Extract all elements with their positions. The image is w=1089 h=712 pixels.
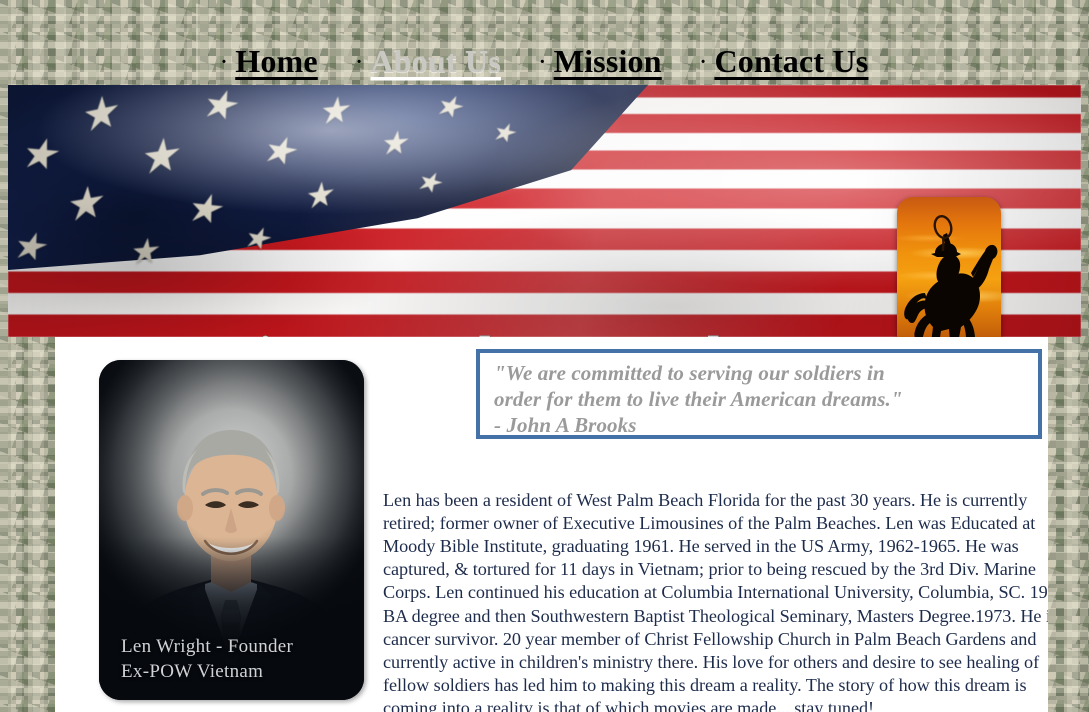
founder-biography-text: Len has been a resident of West Palm Bea…: [383, 489, 1048, 712]
nav-bullet-icon: ·: [356, 52, 363, 72]
mission-quote-text: "We are committed to serving our soldier…: [494, 361, 1026, 438]
flag-banner: Project Freedom Ranch: [8, 85, 1081, 337]
quote-line-2: order for them to live their American dr…: [494, 387, 1026, 413]
nav-bullet-icon: ·: [539, 52, 546, 72]
cowboy-silhouette-icon: [897, 197, 1001, 337]
main-navigation: · Home · About Us · Mission · Contact Us: [0, 0, 1089, 85]
mission-quote-box: "We are committed to serving our soldier…: [476, 349, 1042, 439]
nav-bullet-icon: ·: [700, 52, 707, 72]
nav-item-about-us-group: · About Us: [356, 45, 539, 77]
page-title: Project Freedom Ranch: [168, 328, 738, 337]
quote-line-1: "We are committed to serving our soldier…: [494, 361, 1026, 387]
founder-portrait-photo: Len Wright - Founder Ex-POW Vietnam: [99, 360, 364, 700]
nav-item-mission-group: · Mission: [539, 45, 700, 77]
nav-bullet-icon: ·: [221, 52, 228, 72]
cowboy-horse-logo-icon[interactable]: [897, 197, 1001, 337]
nav-link-about-us[interactable]: About Us: [370, 45, 501, 77]
portrait-caption: Len Wright - Founder Ex-POW Vietnam: [121, 635, 293, 684]
nav-item-home-group: · Home: [221, 45, 356, 77]
nav-item-contact-us-group: · Contact Us: [700, 45, 869, 77]
page-root: · Home · About Us · Mission · Contact Us: [0, 0, 1089, 712]
nav-link-home[interactable]: Home: [235, 45, 318, 77]
nav-link-mission[interactable]: Mission: [554, 45, 662, 77]
nav-link-contact-us[interactable]: Contact Us: [714, 45, 868, 77]
portrait-caption-line-2: Ex-POW Vietnam: [121, 660, 293, 684]
portrait-caption-line-1: Len Wright - Founder: [121, 635, 293, 659]
main-content-area: Len Wright - Founder Ex-POW Vietnam "We …: [55, 337, 1048, 712]
quote-attribution: - John A Brooks: [494, 413, 1026, 439]
